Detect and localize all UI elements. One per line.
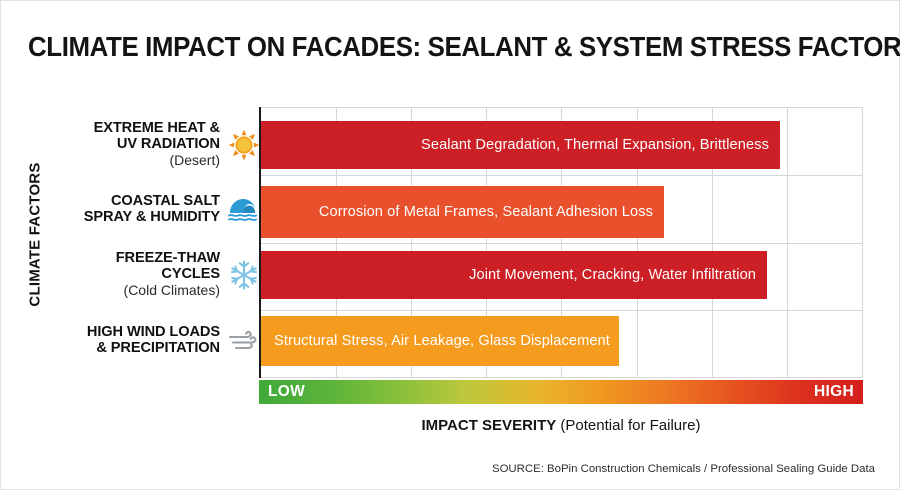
severity-low-label: LOW xyxy=(268,383,305,401)
category-label-block: FREEZE-THAW CYCLES (Cold Climates) xyxy=(116,251,220,298)
infographic-canvas: CLIMATE IMPACT ON FACADES: SEALANT & SYS… xyxy=(0,0,900,490)
severity-high-label: HIGH xyxy=(814,383,854,401)
category-label-line2: CYCLES xyxy=(116,267,220,283)
category-label-line1: EXTREME HEAT & xyxy=(94,121,220,137)
bar-label: Joint Movement, Cracking, Water Infiltra… xyxy=(469,267,756,283)
wind-icon xyxy=(227,324,261,358)
severity-gradient-scale: LOW HIGH xyxy=(259,380,863,404)
gridline-horizontal xyxy=(261,243,863,244)
category-label-line1: HIGH WIND LOADS xyxy=(87,325,220,341)
x-axis-caption-light: (Potential for Failure) xyxy=(560,417,700,434)
source-note: SOURCE: BoPin Construction Chemicals / P… xyxy=(492,463,875,475)
category-label-sub: (Cold Climates) xyxy=(116,283,220,298)
plot-area: Sealant Degradation, Thermal Expansion, … xyxy=(259,107,863,378)
gridline-horizontal xyxy=(261,107,863,108)
bar-freeze-thaw: Joint Movement, Cracking, Water Infiltra… xyxy=(261,251,767,299)
category-label-line1: COASTAL SALT xyxy=(84,194,220,210)
category-label-block: HIGH WIND LOADS & PRECIPITATION xyxy=(87,325,220,357)
bar-label: Corrosion of Metal Frames, Sealant Adhes… xyxy=(319,204,653,220)
category-label-block: COASTAL SALT SPRAY & HUMIDITY xyxy=(84,194,220,226)
category-row-freeze-thaw: FREEZE-THAW CYCLES (Cold Climates) xyxy=(61,251,261,299)
category-row-coastal-salt: COASTAL SALT SPRAY & HUMIDITY xyxy=(61,186,261,234)
gridline-horizontal xyxy=(261,310,863,311)
category-label-sub: (Desert) xyxy=(94,153,220,168)
snowflake-icon xyxy=(227,258,261,292)
bar-label: Structural Stress, Air Leakage, Glass Di… xyxy=(274,333,610,349)
wave-icon xyxy=(227,193,261,227)
page-title: CLIMATE IMPACT ON FACADES: SEALANT & SYS… xyxy=(28,31,874,63)
category-label-line2: & PRECIPITATION xyxy=(87,341,220,357)
gridline-horizontal xyxy=(261,377,863,378)
category-row-extreme-heat: EXTREME HEAT & UV RADIATION (Desert) xyxy=(61,121,261,169)
gridline-horizontal xyxy=(261,175,863,176)
y-axis-title: CLIMATE FACTORS xyxy=(27,135,44,335)
sun-icon xyxy=(227,128,261,162)
bar-high-wind: Structural Stress, Air Leakage, Glass Di… xyxy=(261,316,619,366)
bar-extreme-heat: Sealant Degradation, Thermal Expansion, … xyxy=(261,121,780,169)
category-label-line2: SPRAY & HUMIDITY xyxy=(84,210,220,226)
category-row-high-wind: HIGH WIND LOADS & PRECIPITATION xyxy=(61,319,261,363)
category-label-block: EXTREME HEAT & UV RADIATION (Desert) xyxy=(94,121,220,168)
category-label-line2: UV RADIATION xyxy=(94,137,220,153)
x-axis-caption-strong: IMPACT SEVERITY xyxy=(422,417,557,434)
category-label-line1: FREEZE-THAW xyxy=(116,251,220,267)
bar-coastal-salt: Corrosion of Metal Frames, Sealant Adhes… xyxy=(261,186,664,238)
x-axis-caption: IMPACT SEVERITY (Potential for Failure) xyxy=(259,417,863,434)
bar-label: Sealant Degradation, Thermal Expansion, … xyxy=(421,137,769,153)
